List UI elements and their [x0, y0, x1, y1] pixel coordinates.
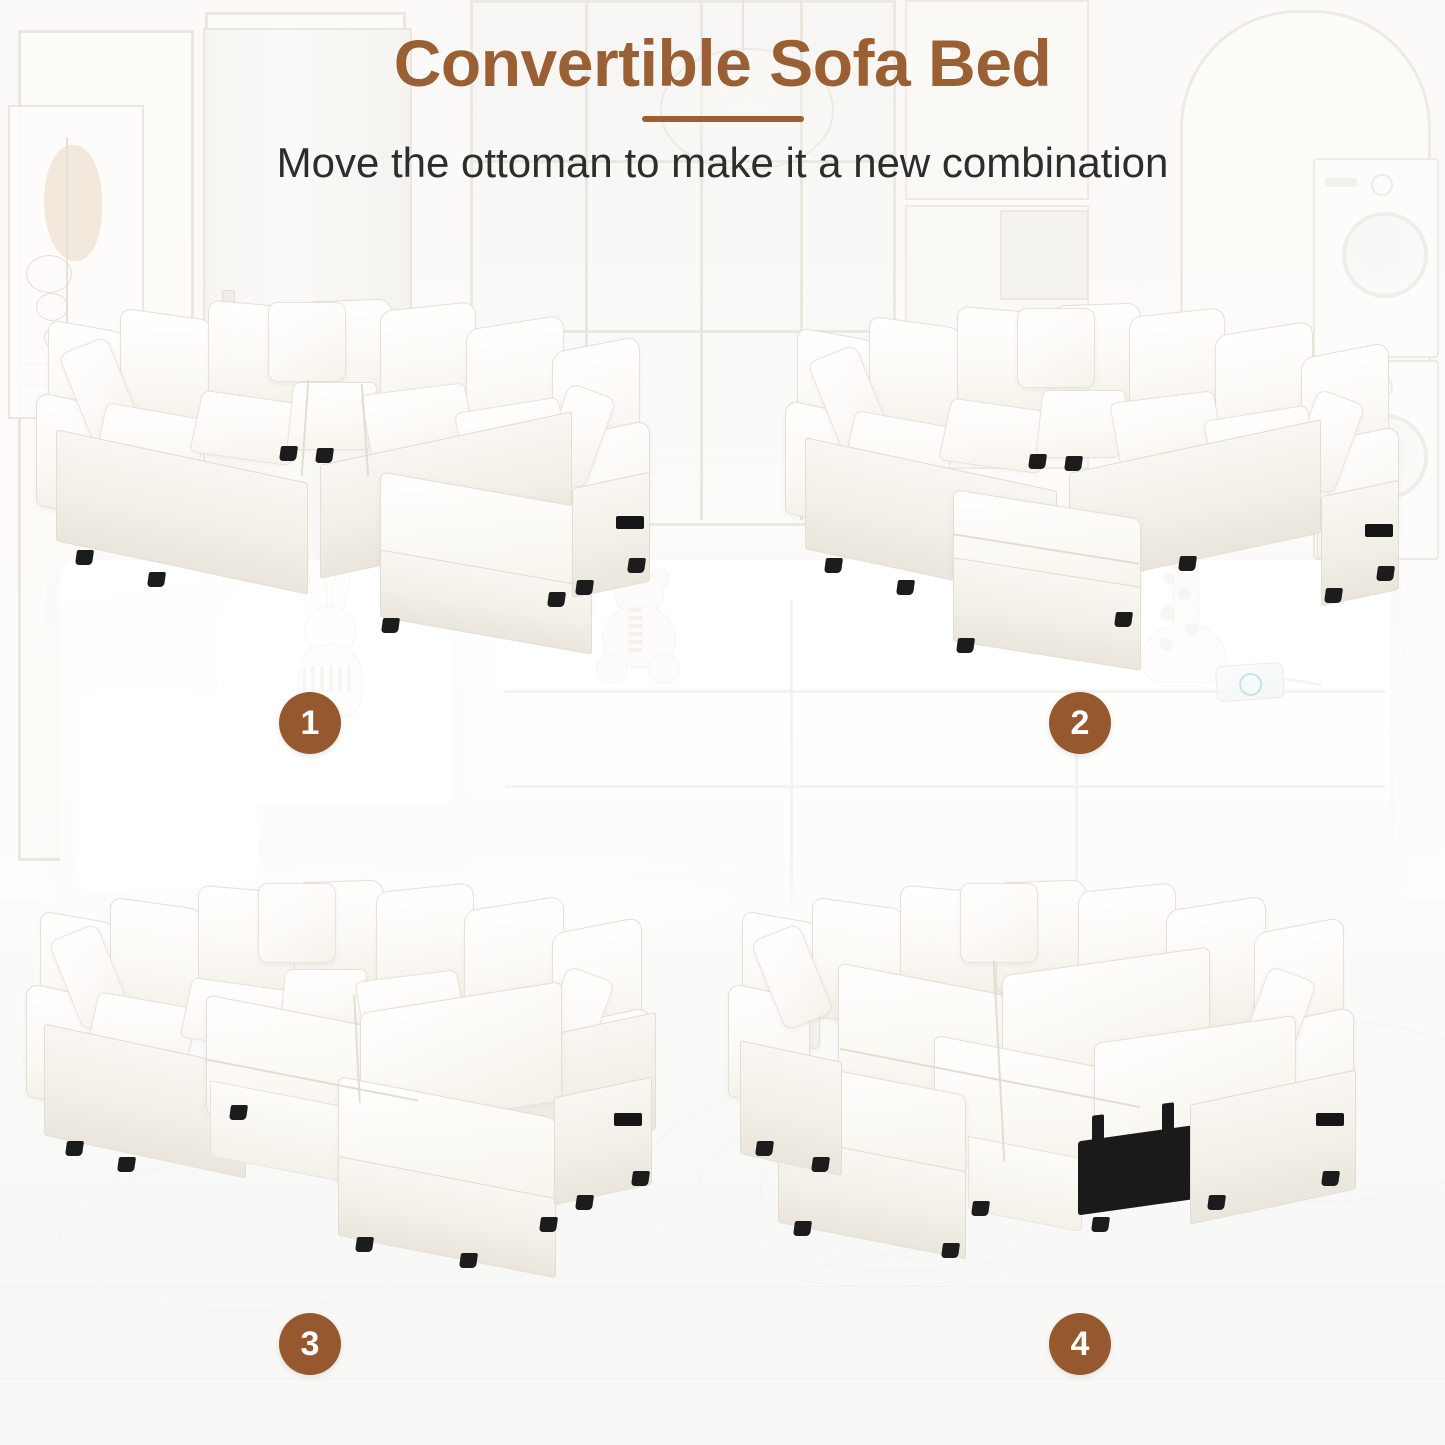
sofa-foot: [575, 1195, 594, 1210]
sectional-sofa-config-4: [720, 865, 1400, 1285]
panel-configuration-1: [28, 300, 688, 700]
right-module-base: [554, 1077, 652, 1206]
sofa-foot: [811, 1157, 830, 1172]
sofa-foot: [1207, 1195, 1226, 1210]
product-infographic-poster: Convertible Sofa Bed Move the ottoman to…: [0, 0, 1445, 1445]
throw-pillow: [960, 883, 1038, 963]
step-badge-2: 2: [1049, 692, 1111, 754]
sofa-foot: [279, 446, 298, 461]
ottoman-foot: [1114, 612, 1133, 627]
sofa-foot: [117, 1157, 136, 1172]
pull-handle-strap: [1316, 1113, 1344, 1126]
panel-configuration-2: [775, 300, 1435, 700]
ottoman-foot: [381, 618, 400, 633]
sofa-foot: [1376, 566, 1395, 581]
left-module-base: [740, 1040, 842, 1176]
bed-foot: [355, 1237, 374, 1252]
panel-configuration-3: [20, 865, 692, 1285]
poster-header: Convertible Sofa Bed Move the ottoman to…: [0, 0, 1445, 188]
frame-leg: [1162, 1102, 1174, 1188]
sofa-foot: [75, 550, 94, 565]
pull-handle-strap: [614, 1113, 642, 1126]
throw-pillow: [268, 302, 346, 382]
sectional-sofa-config-3: [20, 865, 692, 1285]
sectional-sofa-config-1: [28, 300, 688, 700]
bed-foot: [459, 1253, 478, 1268]
sofa-foot: [65, 1141, 84, 1156]
sofa-foot: [315, 448, 334, 463]
frame-leg: [1092, 1114, 1104, 1200]
sofa-foot: [229, 1105, 248, 1120]
throw-pillow: [258, 883, 336, 963]
sofa-foot: [1064, 456, 1083, 471]
ottoman-foot: [941, 1243, 960, 1258]
configuration-panels: 1 2 3 4: [0, 0, 1445, 1445]
panel-configuration-4: [720, 865, 1400, 1285]
sofa-foot: [1324, 588, 1343, 603]
sofa-foot: [627, 558, 646, 573]
sofa-foot: [1321, 1171, 1340, 1186]
sofa-foot: [631, 1171, 650, 1186]
page-subtitle: Move the ottoman to make it a new combin…: [0, 138, 1445, 188]
pull-handle-strap: [616, 516, 644, 529]
pull-handle-strap: [1365, 524, 1393, 537]
sofa-foot: [755, 1141, 774, 1156]
bed-foot: [1091, 1217, 1110, 1232]
ottoman-foot: [793, 1221, 812, 1236]
sofa-foot: [1178, 556, 1197, 571]
step-badge-4: 4: [1049, 1313, 1111, 1375]
sofa-foot: [896, 580, 915, 595]
sectional-sofa-config-2: [775, 300, 1435, 700]
title-divider: [642, 116, 804, 122]
step-badge-3: 3: [279, 1313, 341, 1375]
bed-foot: [971, 1201, 990, 1216]
sofa-foot: [575, 580, 594, 595]
bed-foot: [539, 1217, 558, 1232]
sofa-foot: [824, 558, 843, 573]
sofa-foot: [147, 572, 166, 587]
page-title: Convertible Sofa Bed: [0, 0, 1445, 102]
sofa-foot: [1028, 454, 1047, 469]
step-badge-1: 1: [279, 692, 341, 754]
ottoman-foot: [547, 592, 566, 607]
ottoman-foot: [956, 638, 975, 653]
throw-pillow: [1017, 308, 1095, 388]
